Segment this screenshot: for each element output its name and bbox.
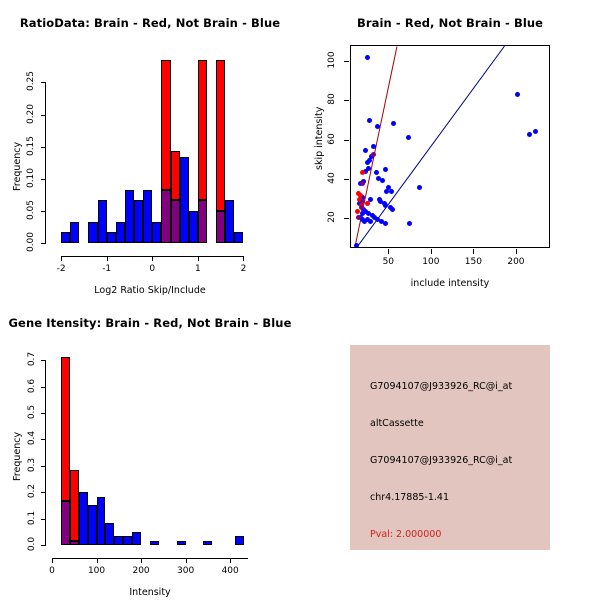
x-tick	[230, 558, 231, 563]
x-tick	[388, 249, 389, 254]
x-tick	[52, 558, 53, 563]
histogram-bar-not-brain	[203, 541, 212, 545]
scatter-point	[406, 135, 411, 140]
scatter-point	[365, 160, 370, 165]
y-tick	[41, 387, 46, 388]
y-tick	[41, 211, 46, 212]
histogram-bar-overlap	[171, 200, 180, 243]
scatter-point	[371, 152, 376, 157]
y-tick	[41, 545, 46, 546]
x-tick-label: -2	[49, 264, 73, 274]
genomic-location: chr4.17885-1.41	[370, 492, 449, 503]
histogram-bar-overlap	[216, 211, 225, 243]
histogram-bar-overlap	[198, 200, 207, 243]
gene-intensity-title: Gene Itensity: Brain - Red, Not Brain - …	[0, 316, 300, 330]
scatter-point	[380, 178, 385, 183]
y-tick-label: 80	[327, 87, 337, 111]
y-tick	[41, 243, 46, 244]
y-axis-title: skip intensity	[314, 106, 325, 169]
info-panel: G7094107@J933926_RC@i_ataltCassetteG7094…	[350, 345, 550, 550]
y-tick	[41, 179, 46, 180]
x-tick-label: 0	[140, 264, 164, 274]
x-tick-label: 100	[83, 566, 111, 576]
y-axis-title: Frequency	[12, 432, 23, 481]
x-tick	[431, 249, 432, 254]
histogram-bar-not-brain	[132, 532, 141, 545]
histogram-bar-not-brain	[70, 222, 79, 243]
scatter-point	[368, 219, 373, 224]
histogram-bar-brain	[171, 151, 180, 200]
histogram-bar-not-brain	[107, 232, 116, 243]
x-tick-label: 50	[374, 257, 402, 267]
y-tick	[41, 466, 46, 467]
histogram-bar-not-brain	[189, 211, 198, 243]
x-tick	[152, 256, 153, 261]
x-tick	[61, 256, 62, 261]
histogram-bar-not-brain	[235, 536, 244, 545]
y-tick	[344, 100, 349, 101]
histogram-bar-brain	[198, 60, 207, 201]
y-tick-label: 0.20	[26, 101, 36, 127]
x-tick-label: 150	[459, 257, 487, 267]
x-tick-label: -1	[95, 264, 119, 274]
x-tick	[198, 256, 199, 261]
y-tick	[41, 82, 46, 83]
histogram-bar-brain	[61, 357, 70, 501]
scatter-point	[359, 205, 364, 210]
y-tick-label: 0.2	[27, 479, 37, 503]
y-tick-label: 0.1	[27, 506, 37, 530]
y-tick	[41, 519, 46, 520]
histogram-bar-not-brain	[123, 536, 132, 545]
y-tick	[41, 492, 46, 493]
x-tick	[243, 256, 244, 261]
y-tick-label: 0.7	[27, 347, 37, 371]
x-tick	[186, 558, 187, 563]
x-tick-label: 200	[127, 566, 155, 576]
scatter-point	[365, 201, 370, 206]
x-tick	[473, 249, 474, 254]
histogram-bar-not-brain	[143, 190, 152, 243]
y-axis-line	[45, 360, 46, 545]
y-axis-line	[45, 82, 46, 243]
probe-id-secondary: G7094107@J933926_RC@i_at	[370, 455, 512, 466]
y-tick	[41, 360, 46, 361]
y-tick	[41, 147, 46, 148]
histogram-bar-not-brain	[88, 505, 97, 545]
y-tick	[41, 115, 46, 116]
scatter-point	[417, 185, 422, 190]
y-tick-label: 40	[327, 166, 337, 190]
x-tick-label: 0	[38, 566, 66, 576]
x-axis-title: Intensity	[0, 587, 300, 598]
scatter-point	[533, 129, 538, 134]
histogram-bar-overlap	[70, 541, 79, 545]
y-tick-label: 0.00	[26, 229, 36, 255]
histogram-bar-not-brain	[61, 232, 70, 243]
scatter-point	[383, 221, 388, 226]
x-tick-label: 400	[216, 566, 244, 576]
histogram-bar-not-brain	[88, 222, 97, 243]
histogram-bar-not-brain	[125, 190, 134, 243]
scatter-point	[407, 221, 412, 226]
scatter-title: Brain - Red, Not Brain - Blue	[300, 16, 600, 30]
y-tick-label: 0.4	[27, 426, 37, 450]
scatter-point	[374, 170, 379, 175]
x-tick	[516, 249, 517, 254]
scatter-point	[391, 121, 396, 126]
x-tick	[97, 558, 98, 563]
x-axis-title: Log2 Ratio Skip/Include	[0, 285, 300, 296]
probe-id-primary: G7094107@J933926_RC@i_at	[370, 381, 512, 392]
scatter-plot-box	[350, 45, 550, 248]
scatter-point	[371, 144, 376, 149]
scatter-point	[360, 170, 365, 175]
x-tick-label: 2	[231, 264, 255, 274]
histogram-bar-not-brain	[79, 492, 88, 545]
histogram-bar-not-brain	[152, 222, 161, 243]
x-tick-label: 300	[172, 566, 200, 576]
y-tick-label: 0.5	[27, 400, 37, 424]
y-tick	[41, 439, 46, 440]
y-tick-label: 0.6	[27, 374, 37, 398]
scatter-point	[383, 167, 388, 172]
y-tick	[344, 218, 349, 219]
histogram-bar-not-brain	[98, 200, 107, 243]
scatter-point	[367, 118, 372, 123]
y-tick-label: 0.10	[26, 165, 36, 191]
x-tick	[141, 558, 142, 563]
scatter-point	[365, 55, 370, 60]
y-tick-label: 0.05	[26, 197, 36, 223]
scatter-point	[389, 189, 394, 194]
histogram-bar-not-brain	[134, 200, 143, 243]
histogram-bar-not-brain	[105, 523, 114, 545]
y-tick-label: 20	[327, 205, 337, 229]
y-tick-label: 100	[327, 48, 337, 72]
info-panel-container: G7094107@J933926_RC@i_ataltCassetteG7094…	[300, 300, 600, 600]
histogram-bar-overlap	[61, 501, 70, 545]
scatter-point	[515, 92, 520, 97]
histogram-bar-not-brain	[97, 497, 106, 545]
histogram-bar-not-brain	[150, 541, 159, 545]
ratio-histogram: RatioData: Brain - Red, Not Brain - Blue…	[0, 0, 300, 300]
scatter-point	[363, 148, 368, 153]
y-tick	[344, 179, 349, 180]
histogram-bar-overlap	[161, 190, 170, 243]
y-tick	[344, 140, 349, 141]
y-tick-label: 0.15	[26, 133, 36, 159]
scatter-point	[527, 132, 532, 137]
histogram-bar-not-brain	[116, 222, 125, 243]
x-axis-line	[52, 558, 248, 559]
y-tick-label: 60	[327, 127, 337, 151]
y-tick	[41, 413, 46, 414]
x-tick-label: 100	[417, 257, 445, 267]
x-tick-label: 200	[502, 257, 530, 267]
histogram-bar-not-brain	[234, 232, 243, 243]
plot-canvas: RatioData: Brain - Red, Not Brain - Blue…	[0, 0, 600, 600]
histogram-bar-brain	[216, 60, 225, 211]
histogram-bar-not-brain	[114, 536, 123, 545]
x-tick-label: 1	[186, 264, 210, 274]
pvalue: Pval: 2.000000	[370, 529, 441, 540]
x-tick	[107, 256, 108, 261]
intensity-scatter: Brain - Red, Not Brain - Blue20406080100…	[300, 0, 600, 300]
y-tick-label: 0.25	[26, 68, 36, 94]
histogram-bar-brain	[161, 60, 170, 190]
histogram-bar-brain	[70, 470, 79, 541]
x-axis-title: include intensity	[300, 278, 600, 289]
y-tick-label: 0.0	[27, 532, 37, 556]
y-tick-label: 0.3	[27, 453, 37, 477]
y-axis-title: Frequency	[12, 142, 23, 191]
histogram-bar-not-brain	[225, 200, 234, 243]
gene-intensity-histogram: Gene Itensity: Brain - Red, Not Brain - …	[0, 300, 300, 600]
histogram-bar-not-brain	[177, 541, 186, 545]
event-type: altCassette	[370, 418, 424, 429]
histogram-bar-not-brain	[180, 157, 189, 243]
scatter-point	[390, 207, 395, 212]
ratio-histogram-title: RatioData: Brain - Red, Not Brain - Blue	[0, 16, 300, 30]
y-tick	[344, 61, 349, 62]
